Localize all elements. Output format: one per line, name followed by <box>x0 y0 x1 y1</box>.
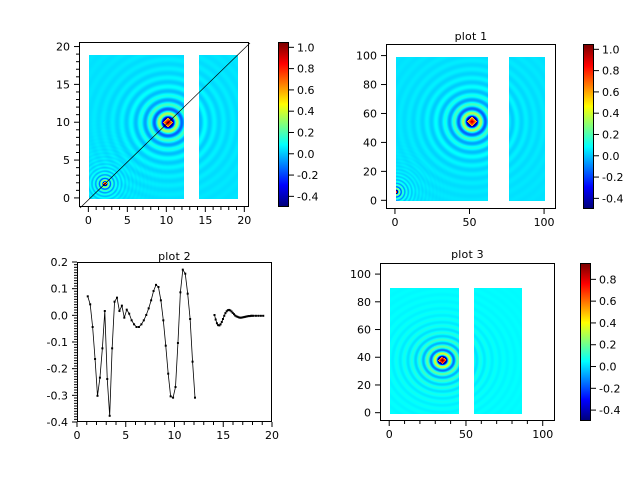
tick-label: 0 <box>85 214 92 227</box>
colorbar-tick-label: 0.2 <box>599 339 617 352</box>
colorbar-tick-label: -0.4 <box>599 404 620 417</box>
tick-label: 5 <box>63 154 70 167</box>
tick-label: 5 <box>124 214 131 227</box>
axis-ticks-top-left: 0510152005101520 <box>19 32 279 257</box>
colorbar-tick-label: 0.4 <box>602 107 620 120</box>
tick-label: 40 <box>363 136 377 149</box>
colorbar-top-right <box>583 44 594 209</box>
colorbar-tick-label: 0.8 <box>602 65 620 78</box>
tick-label: 20 <box>56 41 70 54</box>
tick-label: 0 <box>370 194 377 207</box>
tick-label: 100 <box>356 50 377 63</box>
axis-ticks-top-right: 050100020406080100 <box>326 34 586 259</box>
colorbar-tick-label: 0.0 <box>599 361 617 374</box>
tick-label: 15 <box>198 214 212 227</box>
axis-ticks-bottom-left: 051015200.20.10.0-0.1-0.2-0.3-0.4 <box>17 252 302 472</box>
tick-label: 100 <box>534 216 555 229</box>
tick-label: 15 <box>216 429 230 442</box>
tick-label: 10 <box>168 429 182 442</box>
colorbar-tick-label: 0.6 <box>599 295 617 308</box>
tick-label: 100 <box>350 268 371 281</box>
axis-ticks-bottom-right: 050100020406080100 <box>320 253 585 471</box>
tick-label: 0.2 <box>51 256 69 269</box>
tick-label: 0 <box>386 428 393 441</box>
colorbar-tick-label: 0.0 <box>297 148 315 161</box>
tick-label: 5 <box>122 429 129 442</box>
colorbar-ticks-bottom-right: 0.80.60.40.20.0-0.2-0.4 <box>591 253 640 431</box>
tick-label: 60 <box>363 107 377 120</box>
colorbar-tick-label: -0.4 <box>602 192 623 205</box>
tick-label: 60 <box>357 324 371 337</box>
tick-label: 80 <box>363 79 377 92</box>
colorbar-tick-label: 1.0 <box>297 41 315 54</box>
tick-label: 0 <box>74 429 81 442</box>
colorbar-tick-label: 0.6 <box>297 84 315 97</box>
tick-label: 50 <box>463 216 477 229</box>
tick-label: 20 <box>363 165 377 178</box>
tick-label: 50 <box>459 428 473 441</box>
colorbar-tick-label: 0.8 <box>599 273 617 286</box>
colorbar-tick-label: -0.2 <box>599 382 620 395</box>
colorbar-tick-label: 0.0 <box>602 150 620 163</box>
colorbar-tick-label: 0.8 <box>297 63 315 76</box>
tick-label: 20 <box>237 214 251 227</box>
tick-label: 10 <box>159 214 173 227</box>
colorbar-tick-label: 0.2 <box>297 126 315 139</box>
tick-label: -0.3 <box>47 389 68 402</box>
tick-label: 0 <box>63 192 70 205</box>
colorbar-bottom-right <box>580 263 591 421</box>
colorbar-tick-label: 0.4 <box>297 105 315 118</box>
tick-label: -0.1 <box>47 336 68 349</box>
tick-label: 20 <box>265 429 279 442</box>
colorbar-tick-label: -0.2 <box>602 171 623 184</box>
tick-label: 10 <box>56 116 70 129</box>
tick-label: 20 <box>357 379 371 392</box>
tick-label: 0.0 <box>51 309 69 322</box>
tick-label: 0 <box>391 216 398 229</box>
colorbar-top-left <box>278 42 289 207</box>
colorbar-ticks-top-right: 1.00.80.60.40.20.0-0.2-0.4 <box>594 34 640 219</box>
colorbar-tick-label: 0.4 <box>599 317 617 330</box>
tick-label: 40 <box>357 351 371 364</box>
tick-label: 80 <box>357 296 371 309</box>
figure-canvas: 05101520051015201.00.80.60.40.20.0-0.2-0… <box>0 0 640 480</box>
tick-label: -0.2 <box>47 363 68 376</box>
colorbar-tick-label: 0.2 <box>602 128 620 141</box>
colorbar-tick-label: -0.4 <box>297 190 318 203</box>
colorbar-tick-label: 0.6 <box>602 86 620 99</box>
tick-label: 0 <box>364 407 371 420</box>
tick-label: 15 <box>56 78 70 91</box>
colorbar-tick-label: 1.0 <box>602 43 620 56</box>
colorbar-tick-label: -0.2 <box>297 169 318 182</box>
tick-label: -0.4 <box>47 416 68 429</box>
tick-label: 0.1 <box>51 283 69 296</box>
tick-label: 100 <box>532 428 553 441</box>
